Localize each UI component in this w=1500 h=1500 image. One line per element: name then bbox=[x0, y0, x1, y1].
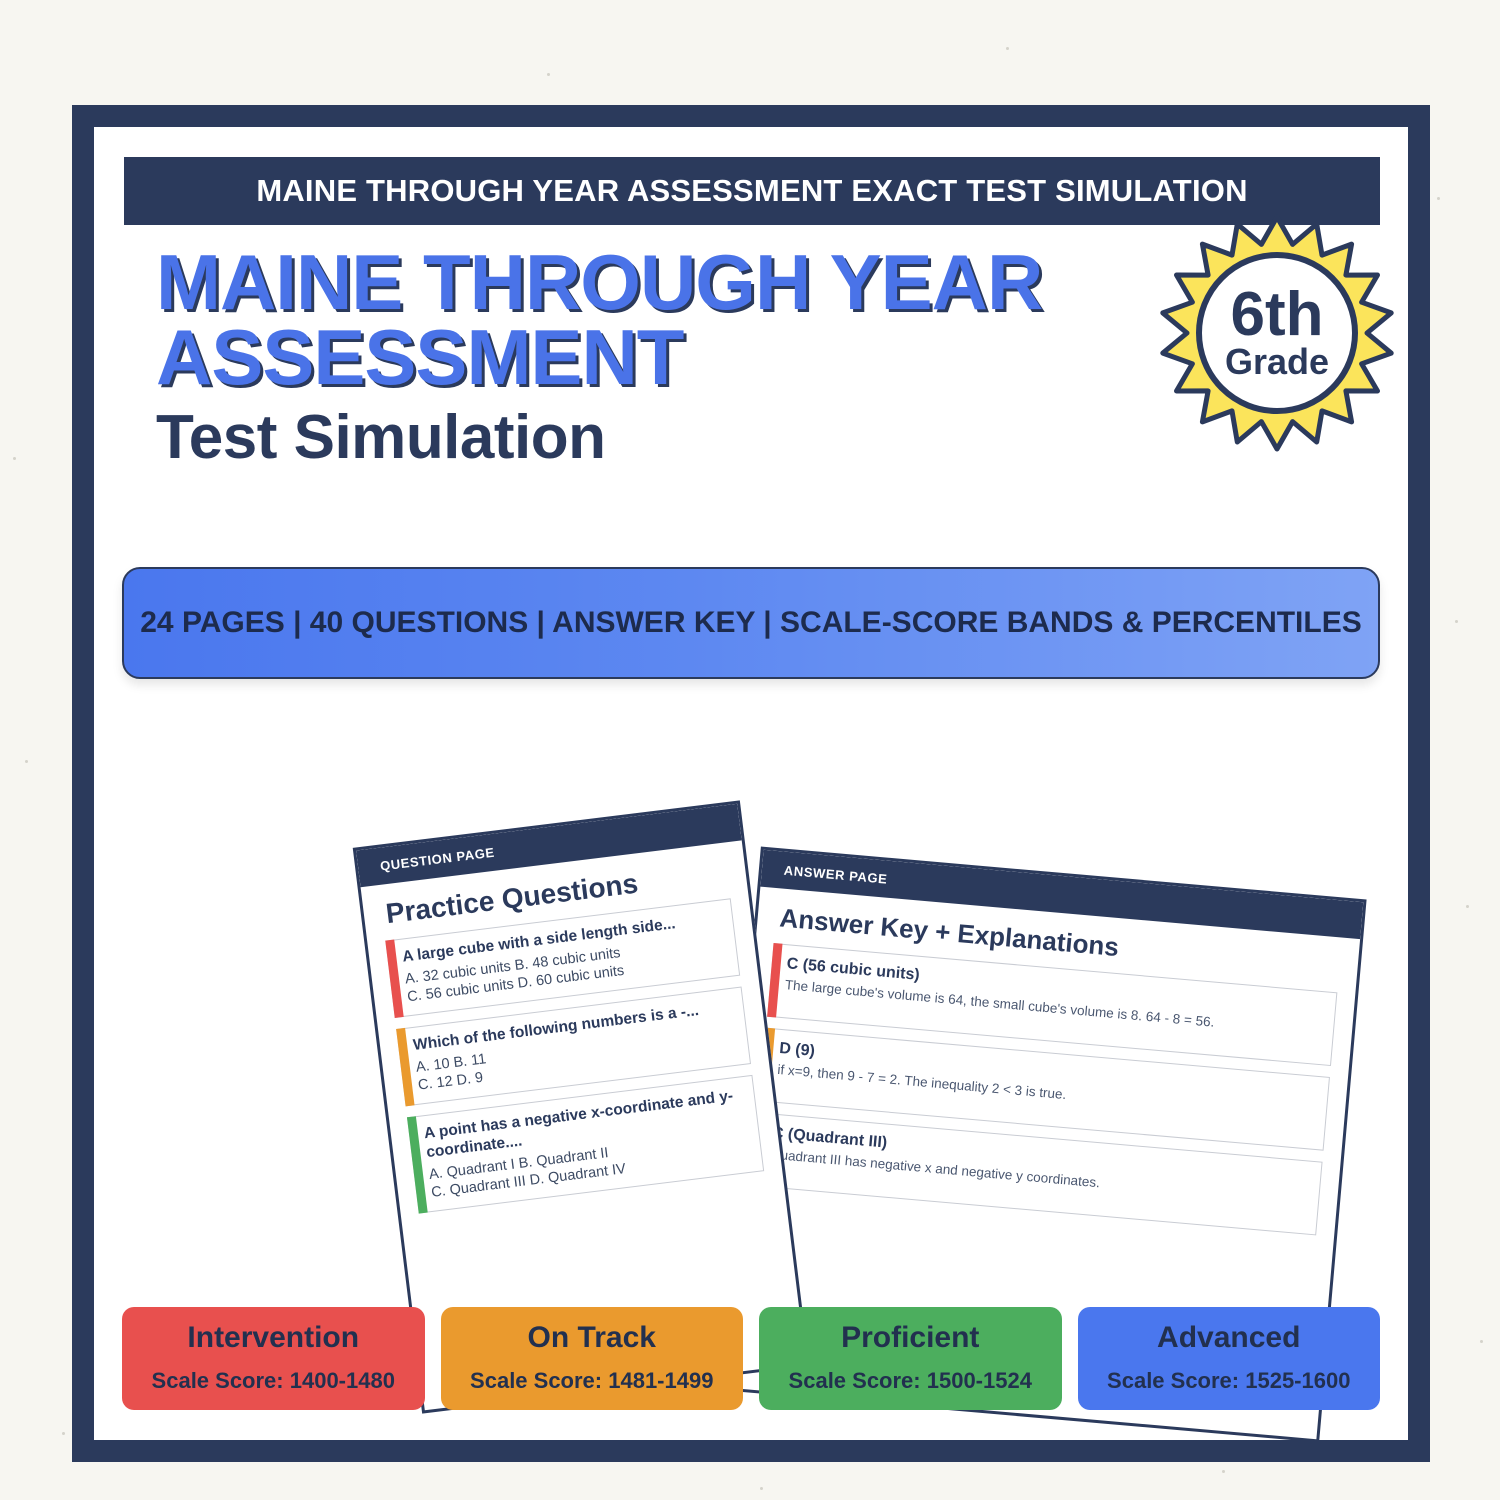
score-band-name: Intervention bbox=[130, 1321, 417, 1354]
feature-ribbon: 24 PAGES | 40 QUESTIONS | ANSWER KEY | S… bbox=[122, 567, 1380, 679]
headline-line-1: MAINE THROUGH YEAR bbox=[156, 245, 1116, 320]
background-speck bbox=[25, 760, 28, 763]
score-band-card: On TrackScale Score: 1481-1499 bbox=[441, 1307, 744, 1410]
background-speck bbox=[760, 1487, 763, 1490]
score-band-range: Scale Score: 1400-1480 bbox=[130, 1368, 417, 1394]
answer-list: C (56 cubic units)The large cube's volum… bbox=[734, 941, 1355, 1237]
background-speck bbox=[1437, 197, 1440, 200]
grade-word: Grade bbox=[1225, 344, 1329, 380]
eyebrow-banner-text: MAINE THROUGH YEAR ASSESSMENT EXACT TEST… bbox=[256, 173, 1247, 209]
page-title: MAINE THROUGH YEAR ASSESSMENT Test Simul… bbox=[156, 245, 1116, 469]
poster-inner-canvas: MAINE THROUGH YEAR ASSESSMENT EXACT TEST… bbox=[92, 125, 1410, 1442]
score-band-card: ProficientScale Score: 1500-1524 bbox=[759, 1307, 1062, 1410]
score-band-range: Scale Score: 1525-1600 bbox=[1086, 1368, 1373, 1394]
background-speck bbox=[1222, 1470, 1225, 1473]
feature-ribbon-text: 24 PAGES | 40 QUESTIONS | ANSWER KEY | S… bbox=[140, 606, 1362, 640]
background-speck bbox=[1006, 47, 1009, 50]
background-speck bbox=[62, 1432, 65, 1435]
score-band-row: InterventionScale Score: 1400-1480On Tra… bbox=[122, 1307, 1380, 1410]
question-list: A large cube with a side length side...A… bbox=[367, 896, 782, 1216]
grade-number: 6th bbox=[1231, 286, 1324, 345]
score-band-range: Scale Score: 1500-1524 bbox=[767, 1368, 1054, 1394]
headline-subtitle: Test Simulation bbox=[156, 407, 1116, 469]
document-mockups: QUESTION PAGE Practice Questions A large… bbox=[94, 687, 1408, 1337]
headline-line-2: ASSESSMENT bbox=[156, 320, 1116, 395]
score-band-name: Advanced bbox=[1086, 1321, 1373, 1354]
poster-frame: MAINE THROUGH YEAR ASSESSMENT EXACT TEST… bbox=[72, 105, 1430, 1462]
score-band-name: Proficient bbox=[767, 1321, 1054, 1354]
background-speck bbox=[547, 73, 550, 76]
grade-badge-text: 6th Grade bbox=[1157, 213, 1397, 453]
score-band-range: Scale Score: 1481-1499 bbox=[449, 1368, 736, 1394]
background-speck bbox=[13, 457, 16, 460]
background-speck bbox=[1466, 905, 1469, 908]
grade-badge: 6th Grade bbox=[1157, 213, 1397, 453]
score-band-card: InterventionScale Score: 1400-1480 bbox=[122, 1307, 425, 1410]
score-band-card: AdvancedScale Score: 1525-1600 bbox=[1078, 1307, 1381, 1410]
background-speck bbox=[1455, 620, 1458, 623]
background-speck bbox=[1480, 1340, 1483, 1343]
score-band-name: On Track bbox=[449, 1321, 736, 1354]
